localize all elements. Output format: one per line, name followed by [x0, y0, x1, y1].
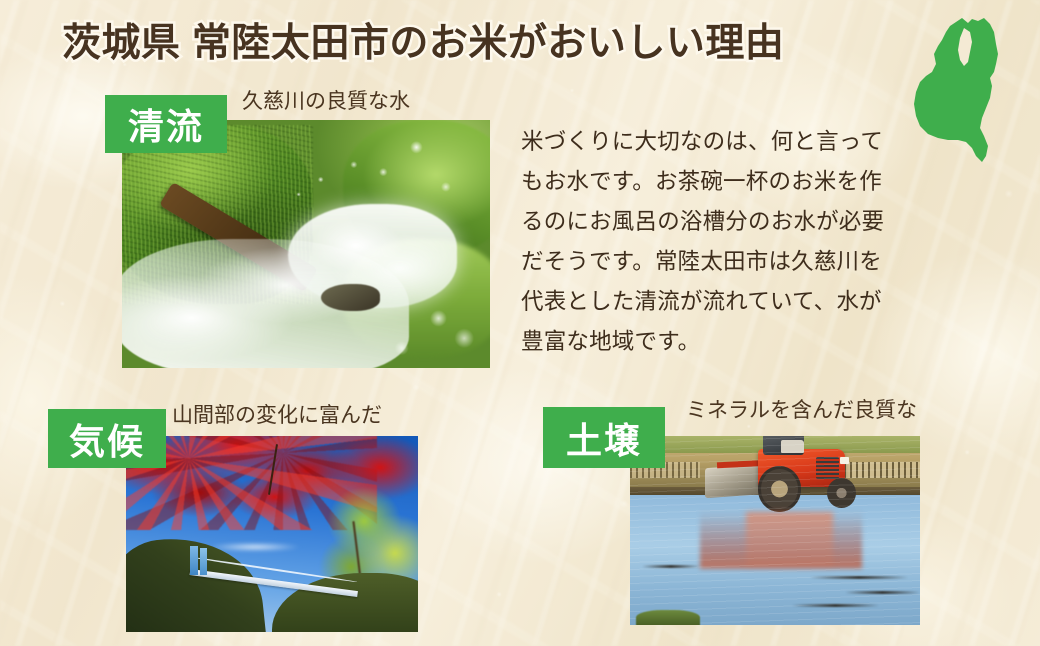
- mud-streak-1: [810, 576, 909, 579]
- bridge-tower-right: [200, 548, 206, 575]
- page-title: 茨城県 常陸太田市のお米がおいしい理由: [62, 22, 784, 66]
- mud-streak-3: [792, 604, 879, 607]
- stream-photo: [122, 120, 490, 368]
- bridge-tower-left: [190, 546, 198, 575]
- water-droplets-bokeh: [122, 120, 490, 368]
- tractor-paddy-photo: [630, 436, 920, 625]
- caption-seiryu: 久慈川の良質な水: [242, 89, 410, 114]
- caption-kikou: 山間部の変化に富んだ: [172, 403, 382, 428]
- water-ripples: [630, 436, 920, 625]
- foreground-grass: [636, 610, 700, 625]
- caption-dojo: ミネラルを含んだ良質な: [686, 398, 917, 423]
- badge-dojo: 土壌: [543, 407, 665, 468]
- badge-seiryu: 清流: [105, 95, 227, 153]
- body-paragraph: 米づくりに大切なのは、何と言ってもお水です。お茶碗一杯のお米を作るのにお風呂の浴…: [521, 122, 893, 362]
- poster-page: 茨城県 常陸太田市のお米がおいしい理由 清流 久慈川の良質な水 米づくりに大切な…: [0, 0, 1040, 646]
- mud-streak-4: [642, 565, 700, 568]
- ibaraki-prefecture-map-icon: [912, 6, 1022, 174]
- badge-kikou: 気候: [48, 409, 166, 468]
- mud-streak-2: [845, 591, 920, 594]
- autumn-bridge-photo: [126, 436, 418, 632]
